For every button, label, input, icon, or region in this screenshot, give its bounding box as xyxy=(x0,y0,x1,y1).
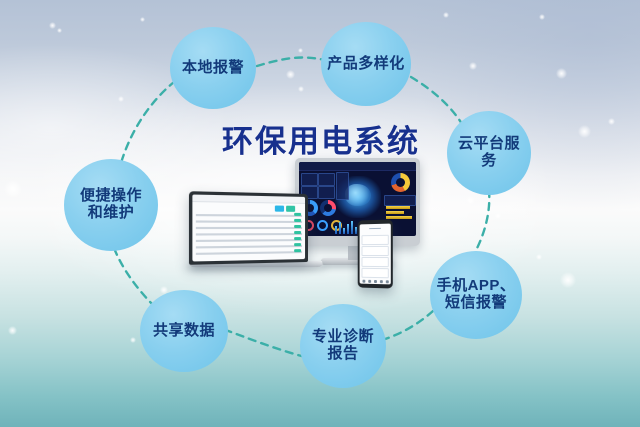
laptop-status-badge xyxy=(294,243,301,246)
bokeh-dot xyxy=(49,22,56,29)
node-diagnosis-report[interactable]: 专业诊断 报告 xyxy=(300,304,386,388)
node-cloud-platform[interactable]: 云平台服务 xyxy=(447,111,531,195)
dashboard-donut-hole xyxy=(396,178,405,187)
bokeh-dot xyxy=(578,125,591,138)
bokeh-dot xyxy=(140,17,145,22)
laptop-status-badge xyxy=(294,225,301,228)
node-local-alarm-label: 本地报警 xyxy=(178,60,248,77)
bokeh-dot xyxy=(466,196,475,205)
poster-canvas: 环保用电系统 本地报警 产品多样化 云平台服务 手机APP、 短信报警 专业诊断… xyxy=(0,0,640,427)
dashboard-gauge xyxy=(317,220,328,231)
bokeh-dot xyxy=(4,180,22,198)
laptop-action-button xyxy=(286,206,295,212)
bokeh-dot xyxy=(286,70,295,79)
node-diagnosis-report-label-line2: 报告 xyxy=(323,346,362,363)
dashboard-donut-hole xyxy=(324,204,332,212)
phone-tabbar-item xyxy=(380,280,383,283)
laptop-table-row xyxy=(196,220,302,222)
dashboard-panel xyxy=(336,172,349,200)
bokeh-dot xyxy=(539,14,545,20)
phone-list-item xyxy=(362,268,389,278)
node-cloud-platform-label: 云平台服务 xyxy=(447,136,531,170)
node-diagnosis-report-label-line1: 专业诊断 xyxy=(308,329,378,346)
dashboard-panel xyxy=(301,173,318,186)
phone-tabbar-item xyxy=(386,280,389,283)
bokeh-dot xyxy=(560,272,576,288)
dashboard-panel xyxy=(384,195,416,206)
node-easy-maintenance-label-line1: 便捷操作 xyxy=(76,188,146,205)
phone-title-bar xyxy=(369,228,381,230)
dashboard-header xyxy=(299,162,416,171)
node-app-sms-alarm-label-line1: 手机APP、 xyxy=(433,278,520,295)
laptop-screen xyxy=(192,195,305,262)
bokeh-dot xyxy=(57,28,62,33)
bokeh-dot xyxy=(443,12,449,18)
phone-tabbar-item xyxy=(362,280,365,283)
node-product-diversity[interactable]: 产品多样化 xyxy=(321,22,411,106)
laptop-table-row xyxy=(196,239,302,242)
bokeh-dot xyxy=(298,48,303,53)
smartphone xyxy=(358,219,393,288)
bokeh-dot xyxy=(495,213,501,219)
phone-list-item xyxy=(362,257,389,267)
phone-tabbar-item xyxy=(368,280,371,283)
page-title: 环保用电系统 xyxy=(222,116,420,161)
node-local-alarm[interactable]: 本地报警 xyxy=(170,27,256,109)
node-app-sms-alarm[interactable]: 手机APP、 短信报警 xyxy=(430,251,522,339)
phone-screen xyxy=(360,224,391,285)
bokeh-dot xyxy=(608,118,615,125)
laptop-status-badge xyxy=(294,213,301,216)
node-app-sms-alarm-label-line2: 短信报警 xyxy=(441,295,511,312)
laptop-table-row xyxy=(196,227,302,229)
dashboard-panel xyxy=(318,173,335,186)
bokeh-dot xyxy=(118,96,124,102)
bokeh-dot xyxy=(130,337,136,343)
bokeh-dot xyxy=(469,62,477,70)
dashboard-bar-yellow xyxy=(386,206,410,209)
phone-list-item xyxy=(362,235,389,245)
node-shared-data[interactable]: 共享数据 xyxy=(140,290,228,372)
laptop-toolbar xyxy=(192,195,305,204)
laptop-table-row xyxy=(196,214,302,217)
phone-list-item xyxy=(362,246,389,256)
laptop xyxy=(189,191,308,265)
laptop-status-badge xyxy=(294,237,301,240)
phone-tabbar-item xyxy=(374,280,377,283)
dashboard-bar-yellow xyxy=(386,216,412,219)
node-easy-maintenance[interactable]: 便捷操作 和维护 xyxy=(64,159,158,251)
bokeh-dot xyxy=(536,254,542,260)
laptop-table-row xyxy=(196,245,302,248)
laptop-status-badge xyxy=(294,249,301,252)
dashboard-bar-yellow xyxy=(386,211,404,214)
laptop-status-badge xyxy=(294,231,301,234)
laptop-status-badge xyxy=(294,219,301,222)
node-shared-data-label: 共享数据 xyxy=(149,323,219,340)
laptop-table-row xyxy=(196,251,302,254)
bokeh-dot xyxy=(556,68,567,79)
device-group xyxy=(190,158,435,308)
laptop-action-button xyxy=(275,205,284,211)
node-product-diversity-label: 产品多样化 xyxy=(323,56,409,73)
node-easy-maintenance-label-line2: 和维护 xyxy=(84,205,139,222)
bokeh-dot xyxy=(8,326,17,335)
bokeh-dot xyxy=(298,86,304,92)
dashboard-panel xyxy=(318,186,335,199)
laptop-table-row xyxy=(196,233,302,235)
